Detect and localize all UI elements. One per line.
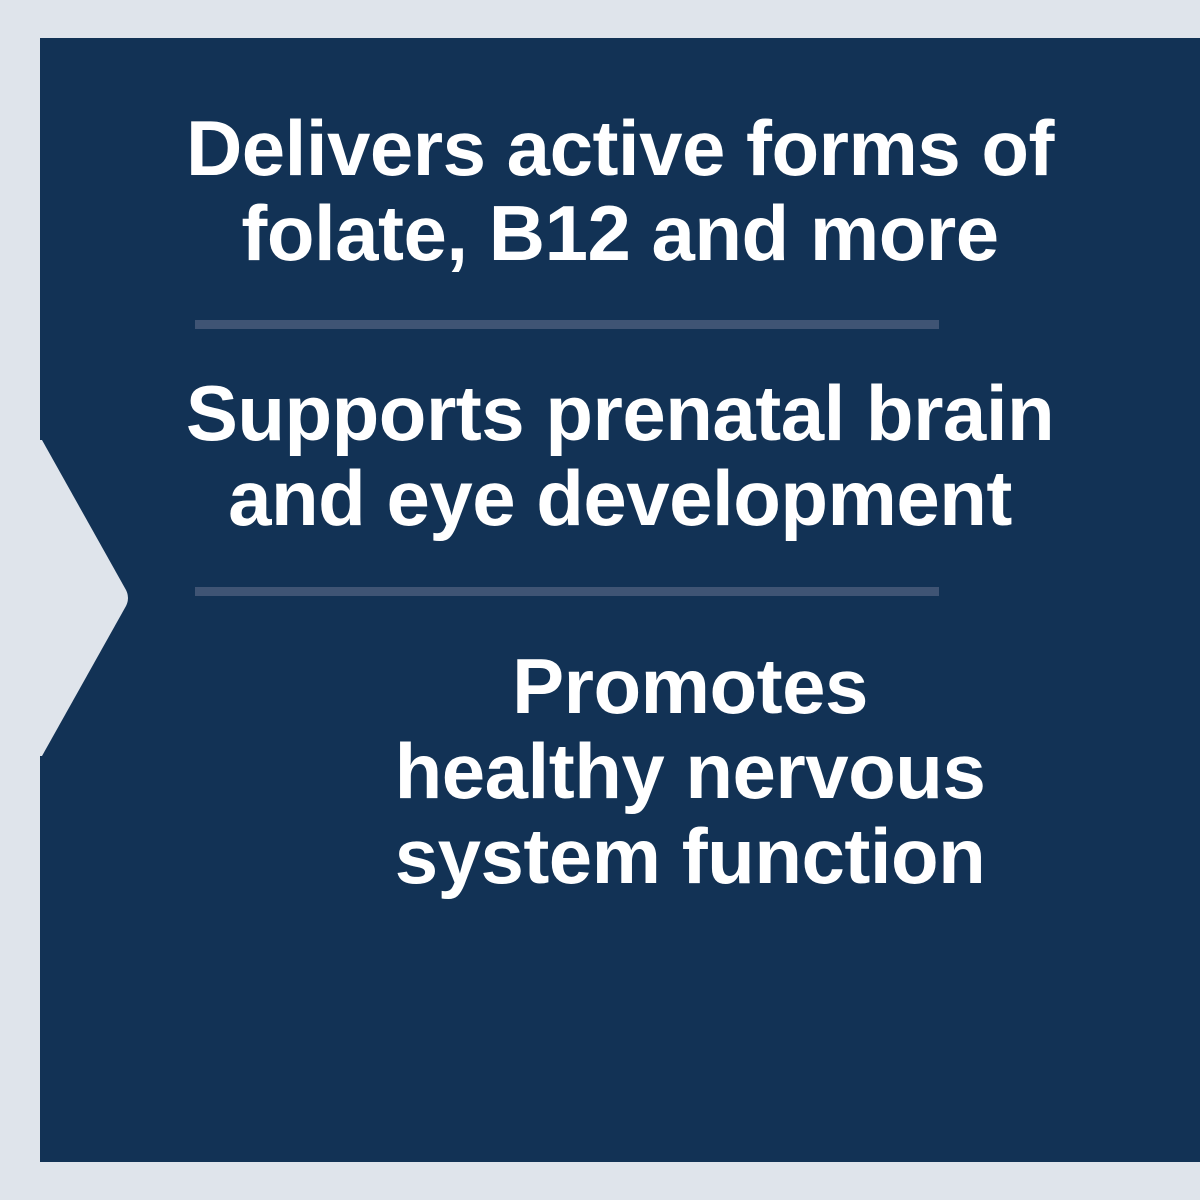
benefit-divider-1 <box>195 320 939 329</box>
benefits-list: Delivers active forms of folate, B12 and… <box>40 38 1200 1162</box>
benefit-divider-2 <box>195 587 939 596</box>
benefit-item-prenatal-development: Supports prenatal brain and eye developm… <box>40 371 1200 541</box>
benefit-item-folate-b12: Delivers active forms of folate, B12 and… <box>40 106 1200 276</box>
benefit-item-nervous-system: Promotes healthy nervous system function <box>40 644 1200 899</box>
benefits-panel: Delivers active forms of folate, B12 and… <box>40 38 1200 1162</box>
screenshot-stage: Delivers active forms of folate, B12 and… <box>0 0 1200 1200</box>
